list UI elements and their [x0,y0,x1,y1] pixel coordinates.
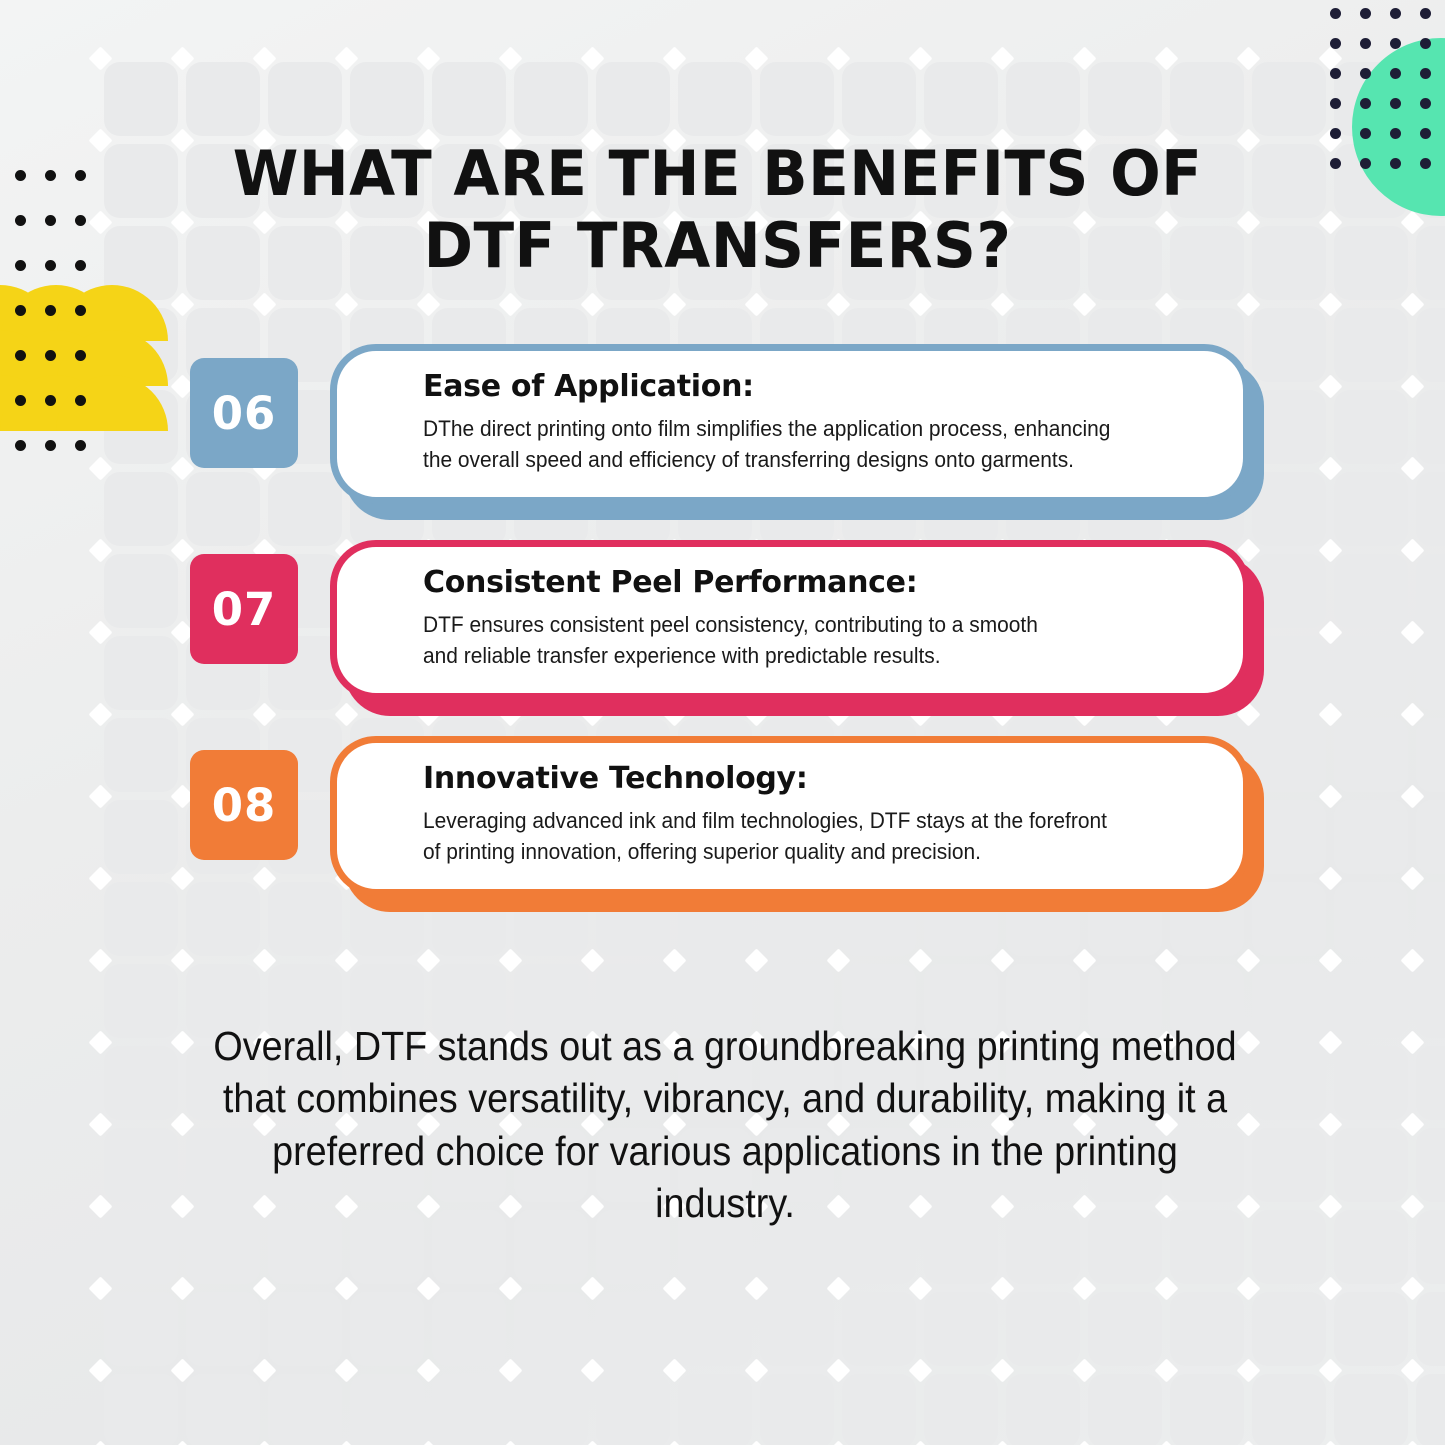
decorative-dot [75,170,86,181]
infographic-poster: WHAT ARE THE BENEFITS OF DTF TRANSFERS? … [0,0,1445,1445]
decorative-dot [1390,8,1401,19]
grid-cell [1416,964,1445,1038]
grid-node-diamond [252,948,276,972]
decorative-dot [1360,8,1371,19]
grid-node-diamond [1318,1440,1342,1445]
grid-cell [678,1292,752,1366]
grid-node-diamond [580,46,604,70]
grid-node-diamond [744,46,768,70]
grid-node-diamond [88,210,112,234]
grid-node-diamond [662,292,686,316]
grid-cell [842,1374,916,1445]
grid-node-diamond [252,292,276,316]
grid-node-diamond [990,948,1014,972]
grid-node-diamond [88,128,112,152]
grid-node-diamond [1318,948,1342,972]
grid-cell [186,62,260,136]
grid-cell [1088,1374,1162,1445]
grid-node-diamond [990,46,1014,70]
card-number-badge: 06 [190,358,298,468]
grid-cell [268,1292,342,1366]
grid-node-diamond [88,1030,112,1054]
grid-node-diamond [170,46,194,70]
grid-node-diamond [826,292,850,316]
grid-cell [432,1374,506,1445]
card-body-line: and reliable transfer experience with pr… [423,641,1147,672]
card-body-line: DThe direct printing onto film simplifie… [423,414,1147,445]
grid-node-diamond [908,1276,932,1300]
page-title: WHAT ARE THE BENEFITS OF DTF TRANSFERS? [173,138,1263,282]
decorative-dot [15,170,26,181]
summary-paragraph: Overall, DTF stands out as a groundbreak… [210,1020,1240,1230]
grid-node-diamond [1400,1030,1424,1054]
grid-cell [104,1210,178,1284]
grid-node-diamond [1154,1358,1178,1382]
grid-cell [1252,226,1326,300]
grid-node-diamond [1318,1194,1342,1218]
grid-cell [1170,1292,1244,1366]
grid-cell [1006,1292,1080,1366]
grid-node-diamond [990,292,1014,316]
grid-node-diamond [88,1440,112,1445]
grid-cell [104,62,178,136]
grid-node-diamond [1236,1276,1260,1300]
grid-cell [1252,1046,1326,1120]
grid-node-diamond [744,1276,768,1300]
grid-node-diamond [1236,46,1260,70]
card-body-line: Leveraging advanced ink and film technol… [423,806,1147,837]
grid-node-diamond [416,46,440,70]
grid-node-diamond [1072,1440,1096,1445]
grid-cell [678,1374,752,1445]
grid-node-diamond [88,1358,112,1382]
grid-node-diamond [826,1276,850,1300]
grid-cell [1088,62,1162,136]
decorative-dot [1420,8,1431,19]
grid-cell [1252,1374,1326,1445]
decorative-dot [1360,38,1371,49]
grid-node-diamond [1072,46,1096,70]
grid-cell [186,1292,260,1366]
decorative-dot [1390,38,1401,49]
grid-cell [104,144,178,218]
decorative-dot [75,260,86,271]
decorative-dot [75,215,86,226]
grid-cell [514,62,588,136]
decorative-dot [45,170,56,181]
grid-cell [1252,62,1326,136]
decorative-dot [1330,128,1341,139]
grid-node-diamond [1400,1112,1424,1136]
grid-cell [1252,1128,1326,1202]
grid-node-diamond [1318,210,1342,234]
benefit-card-row: 08 Innovative Technology: Leveraging adv… [0,732,1445,928]
grid-node-diamond [580,1276,604,1300]
grid-cell [432,1292,506,1366]
grid-node-diamond [1318,46,1342,70]
grid-node-diamond [1154,46,1178,70]
benefit-card: Ease of Application: DThe direct printin… [330,344,1250,504]
decorative-dot [1390,158,1401,169]
decorative-dot [1420,158,1431,169]
grid-cell [268,1374,342,1445]
grid-node-diamond [416,1440,440,1445]
grid-cell [1252,1210,1326,1284]
grid-cell [1334,1292,1408,1366]
grid-cell [1334,1046,1408,1120]
grid-node-diamond [744,292,768,316]
grid-node-diamond [826,948,850,972]
grid-node-diamond [498,46,522,70]
grid-node-diamond [416,1358,440,1382]
grid-node-diamond [580,1358,604,1382]
grid-node-diamond [1154,292,1178,316]
grid-node-diamond [1400,1276,1424,1300]
grid-cell [924,62,998,136]
grid-node-diamond [990,1358,1014,1382]
grid-cell [924,1292,998,1366]
grid-node-diamond [252,1358,276,1382]
grid-node-diamond [1400,210,1424,234]
decorative-dot [1330,158,1341,169]
grid-node-diamond [416,292,440,316]
grid-cell [514,1292,588,1366]
grid-node-diamond [170,1194,194,1218]
decorative-dot [1390,98,1401,109]
decorative-dot [45,305,56,316]
grid-node-diamond [334,1276,358,1300]
decorative-dot [1330,38,1341,49]
grid-node-diamond [334,948,358,972]
grid-cell [1416,1128,1445,1202]
decorative-dot [15,260,26,271]
grid-node-diamond [498,292,522,316]
benefit-card-row: 07 Consistent Peel Performance: DTF ensu… [0,536,1445,732]
grid-cell [1252,1292,1326,1366]
grid-node-diamond [908,1440,932,1445]
grid-node-diamond [826,1358,850,1382]
card-number-badge: 08 [190,750,298,860]
grid-node-diamond [744,948,768,972]
grid-cell [514,1374,588,1445]
grid-node-diamond [990,1276,1014,1300]
grid-node-diamond [498,1440,522,1445]
grid-node-diamond [252,46,276,70]
decorative-dot [1420,68,1431,79]
grid-node-diamond [908,292,932,316]
grid-cell [1416,1374,1445,1445]
card-number-badge: 07 [190,554,298,664]
grid-node-diamond [580,1440,604,1445]
benefit-card-list: 06 Ease of Application: DThe direct prin… [0,340,1445,928]
grid-node-diamond [88,1112,112,1136]
grid-cell [104,1046,178,1120]
grid-cell [104,1128,178,1202]
decorative-dot [15,215,26,226]
grid-cell [1252,964,1326,1038]
decorative-dot [1360,98,1371,109]
decorative-dot [1360,158,1371,169]
grid-node-diamond [662,46,686,70]
grid-cell [350,62,424,136]
grid-cell [350,1292,424,1366]
grid-node-diamond [662,948,686,972]
grid-node-diamond [334,292,358,316]
grid-node-diamond [1400,1440,1424,1445]
grid-cell [760,62,834,136]
card-heading: Consistent Peel Performance: [423,565,1201,600]
grid-node-diamond [498,1276,522,1300]
grid-node-diamond [1236,1440,1260,1445]
grid-cell [104,964,178,1038]
grid-cell [596,62,670,136]
grid-cell [1416,226,1445,300]
grid-node-diamond [1400,1194,1424,1218]
decorative-dot [1420,98,1431,109]
grid-cell [842,1292,916,1366]
decorative-dot [15,305,26,316]
grid-node-diamond [1318,1276,1342,1300]
card-body-line: DTF ensures consistent peel consistency,… [423,610,1147,641]
grid-node-diamond [1154,1440,1178,1445]
grid-node-diamond [826,1440,850,1445]
grid-node-diamond [1318,1358,1342,1382]
grid-cell [1334,1210,1408,1284]
grid-cell [1088,1292,1162,1366]
grid-node-diamond [1154,1276,1178,1300]
decorative-dot [1390,68,1401,79]
grid-node-diamond [1318,1030,1342,1054]
grid-node-diamond [662,1358,686,1382]
grid-cell [1416,1292,1445,1366]
grid-node-diamond [170,948,194,972]
grid-cell [104,1292,178,1366]
grid-cell [1416,1210,1445,1284]
grid-node-diamond [744,1358,768,1382]
grid-cell [186,1374,260,1445]
mint-circle-decoration [1352,38,1445,216]
grid-cell [1006,62,1080,136]
grid-node-diamond [88,948,112,972]
card-body-line: the overall speed and efficiency of tran… [423,445,1147,476]
grid-node-diamond [1400,948,1424,972]
grid-node-diamond [1154,948,1178,972]
decorative-dot [75,305,86,316]
decorative-dot [45,260,56,271]
grid-node-diamond [170,1030,194,1054]
card-body-line: of printing innovation, offering superio… [423,837,1147,868]
grid-cell [1334,964,1408,1038]
grid-node-diamond [1236,948,1260,972]
grid-node-diamond [170,1440,194,1445]
grid-node-diamond [170,1112,194,1136]
grid-cell [1334,1128,1408,1202]
grid-node-diamond [1318,1112,1342,1136]
grid-node-diamond [170,1358,194,1382]
grid-node-diamond [170,292,194,316]
grid-node-diamond [252,1440,276,1445]
grid-cell [924,1374,998,1445]
grid-cell [760,1292,834,1366]
grid-cell [596,1374,670,1445]
grid-node-diamond [990,1440,1014,1445]
grid-node-diamond [1072,1276,1096,1300]
grid-cell [1334,226,1408,300]
grid-cell [1170,1374,1244,1445]
decorative-dot [1330,98,1341,109]
decorative-dot [1420,128,1431,139]
grid-node-diamond [416,1276,440,1300]
benefit-card: Consistent Peel Performance: DTF ensures… [330,540,1250,700]
grid-cell [596,1292,670,1366]
grid-node-diamond [170,1276,194,1300]
decorative-dot [1360,128,1371,139]
grid-node-diamond [1072,1358,1096,1382]
grid-cell [678,62,752,136]
grid-node-diamond [334,1358,358,1382]
decorative-dot [1330,68,1341,79]
grid-node-diamond [580,948,604,972]
grid-node-diamond [580,292,604,316]
grid-node-diamond [334,1440,358,1445]
grid-node-diamond [1400,292,1424,316]
grid-cell [268,62,342,136]
grid-node-diamond [1318,292,1342,316]
grid-node-diamond [826,46,850,70]
grid-node-diamond [1236,1358,1260,1382]
grid-cell [1252,144,1326,218]
card-heading: Ease of Application: [423,369,1201,404]
grid-cell [1416,1046,1445,1120]
grid-node-diamond [662,1440,686,1445]
benefit-card: Innovative Technology: Leveraging advanc… [330,736,1250,896]
grid-node-diamond [498,1358,522,1382]
benefit-card-row: 06 Ease of Application: DThe direct prin… [0,340,1445,536]
grid-node-diamond [88,1276,112,1300]
card-heading: Innovative Technology: [423,761,1201,796]
grid-node-diamond [1400,1358,1424,1382]
grid-cell [842,62,916,136]
grid-cell [350,1374,424,1445]
grid-cell [1170,62,1244,136]
grid-node-diamond [252,1276,276,1300]
grid-cell [104,1374,178,1445]
grid-node-diamond [334,46,358,70]
decorative-dot [1420,38,1431,49]
grid-node-diamond [88,46,112,70]
grid-node-diamond [744,1440,768,1445]
grid-node-diamond [908,1358,932,1382]
decorative-dot [1330,8,1341,19]
decorative-dot [1360,68,1371,79]
grid-node-diamond [416,948,440,972]
grid-cell [432,62,506,136]
grid-cell [1334,1374,1408,1445]
grid-node-diamond [1072,948,1096,972]
decorative-dot [45,215,56,226]
grid-node-diamond [908,46,932,70]
grid-node-diamond [1236,292,1260,316]
grid-node-diamond [1072,292,1096,316]
grid-cell [1006,1374,1080,1445]
grid-cell [760,1374,834,1445]
grid-node-diamond [88,1194,112,1218]
grid-node-diamond [908,948,932,972]
grid-node-diamond [662,1276,686,1300]
decorative-dot [1390,128,1401,139]
grid-node-diamond [498,948,522,972]
